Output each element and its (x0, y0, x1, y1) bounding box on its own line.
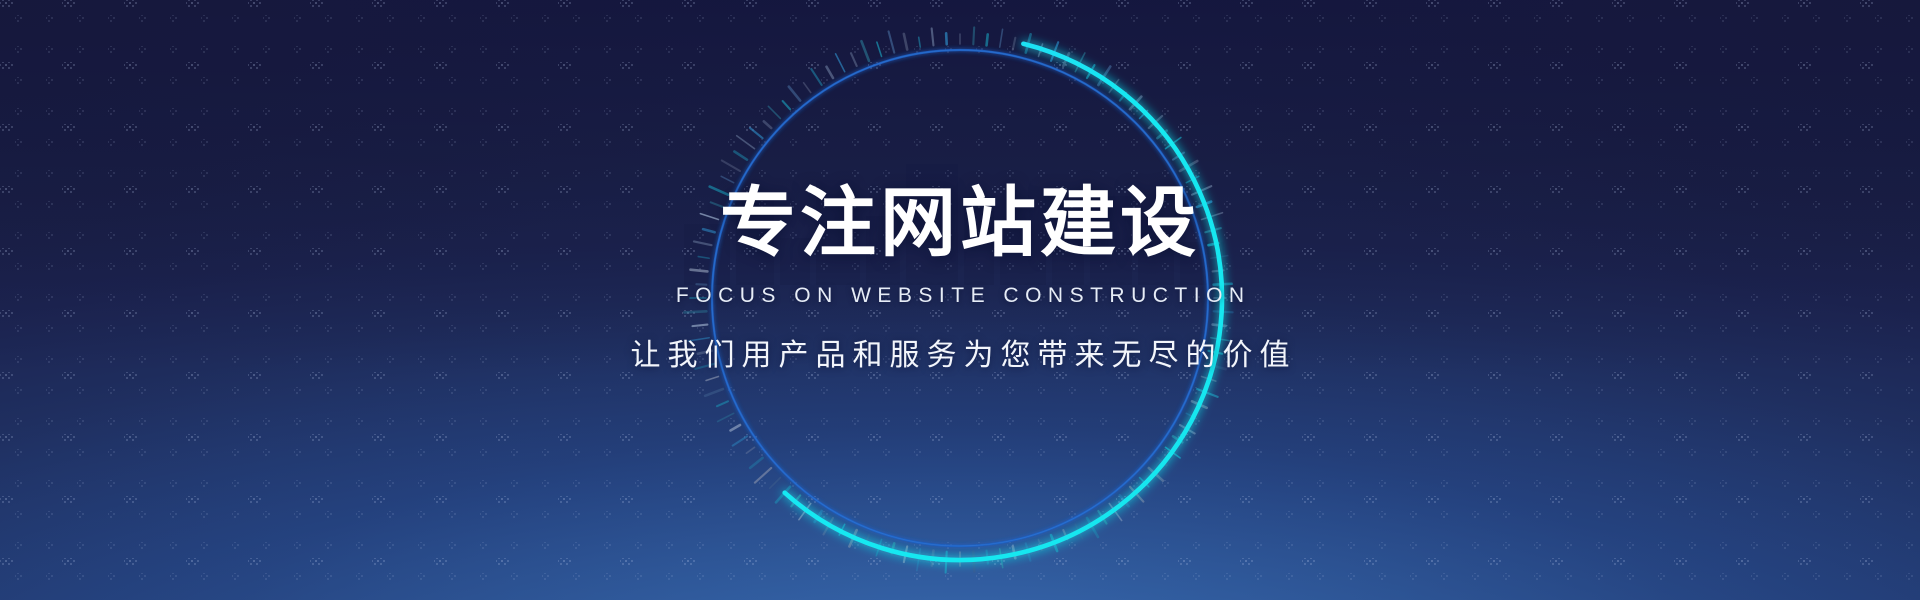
hero-banner: 专注网站建设 FOCUS ON WEBSITE CONSTRUCTION 让我们… (0, 0, 1920, 600)
banner-headline: 专注网站建设 (0, 186, 1920, 262)
banner-copy: 专注网站建设 FOCUS ON WEBSITE CONSTRUCTION 让我们… (0, 186, 1920, 374)
banner-subline: FOCUS ON WEBSITE CONSTRUCTION (0, 284, 1920, 308)
banner-tagline: 让我们用产品和服务为您带来无尽的价值 (0, 330, 1920, 374)
